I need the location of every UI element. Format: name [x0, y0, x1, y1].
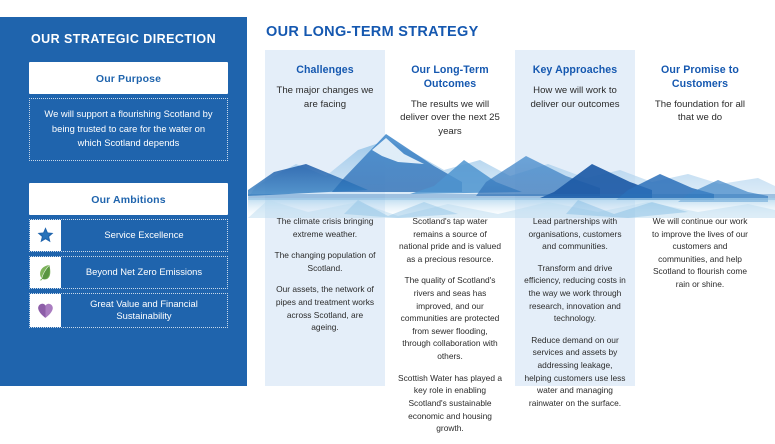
our-purpose-heading-label: Our Purpose — [96, 73, 161, 85]
star-icon — [30, 220, 61, 251]
our-ambitions-heading-bar: Our Ambitions — [29, 183, 228, 215]
strategy-column-outcomes: Our Long-Term Outcomes The results we wi… — [390, 50, 510, 386]
body-paragraph: Scotland's tap water remains a source of… — [398, 215, 502, 265]
column-heading: Key Approaches — [523, 64, 627, 78]
our-ambitions-heading-label: Our Ambitions — [91, 194, 165, 206]
ambitions-list: Service Excellence Beyond Net Zero Emiss… — [29, 219, 228, 328]
column-header: Challenges The major changes we are faci… — [265, 50, 385, 112]
column-header: Our Long-Term Outcomes The results we wi… — [390, 50, 510, 139]
column-heading: Our Long-Term Outcomes — [398, 64, 502, 92]
body-paragraph: Lead partnerships with organisations, cu… — [523, 215, 627, 253]
our-purpose-heading-bar: Our Purpose — [29, 62, 228, 94]
panel-title: OUR STRATEGIC DIRECTION — [0, 32, 247, 46]
column-body: Scotland's tap water remains a source of… — [390, 215, 510, 444]
column-body: The climate crisis bringing extreme weat… — [265, 215, 385, 343]
body-paragraph: Our assets, the network of pipes and tre… — [273, 283, 377, 333]
ambition-item-great-value: Great Value and Financial Sustainability — [29, 293, 228, 328]
ambition-label: Great Value and Financial Sustainability — [61, 294, 227, 327]
column-heading: Our Promise to Customers — [648, 64, 752, 92]
strategy-column-promise: Our Promise to Customers The foundation … — [640, 50, 760, 386]
heart-icon — [30, 294, 61, 327]
body-paragraph: Transform and drive efficiency, reducing… — [523, 262, 627, 325]
column-header: Key Approaches How we will work to deliv… — [515, 50, 635, 112]
column-header: Our Promise to Customers The foundation … — [640, 50, 760, 125]
column-subtitle: The major changes we are facing — [273, 84, 377, 112]
column-subtitle: The results we will deliver over the nex… — [398, 98, 502, 140]
strategy-columns: Challenges The major changes we are faci… — [265, 50, 770, 386]
column-subtitle: The foundation for all that we do — [648, 98, 752, 126]
strategy-column-challenges: Challenges The major changes we are faci… — [265, 50, 385, 386]
body-paragraph: The quality of Scotland's rivers and sea… — [398, 274, 502, 362]
long-term-strategy-title: OUR LONG-TERM STRATEGY — [266, 24, 479, 40]
ambition-label: Service Excellence — [61, 220, 227, 251]
body-paragraph: Scottish Water has played a key role in … — [398, 372, 502, 435]
body-paragraph: Reduce demand on our services and assets… — [523, 334, 627, 410]
ambition-item-service-excellence: Service Excellence — [29, 219, 228, 252]
column-body: Lead partnerships with organisations, cu… — [515, 215, 635, 419]
body-paragraph: We will continue our work to improve the… — [648, 215, 752, 291]
body-paragraph: The climate crisis bringing extreme weat… — [273, 215, 377, 240]
column-heading: Challenges — [273, 64, 377, 78]
leaf-icon — [30, 257, 61, 288]
body-paragraph: The changing population of Scotland. — [273, 249, 377, 274]
column-body: We will continue our work to improve the… — [640, 215, 760, 300]
purpose-statement: We will support a flourishing Scotland b… — [29, 98, 228, 161]
column-subtitle: How we will work to deliver our outcomes — [523, 84, 627, 112]
strategy-column-key-approaches: Key Approaches How we will work to deliv… — [515, 50, 635, 386]
strategic-direction-panel: OUR STRATEGIC DIRECTION Our Purpose We w… — [0, 17, 247, 386]
ambition-item-beyond-net-zero: Beyond Net Zero Emissions — [29, 256, 228, 289]
ambition-label: Beyond Net Zero Emissions — [61, 257, 227, 288]
